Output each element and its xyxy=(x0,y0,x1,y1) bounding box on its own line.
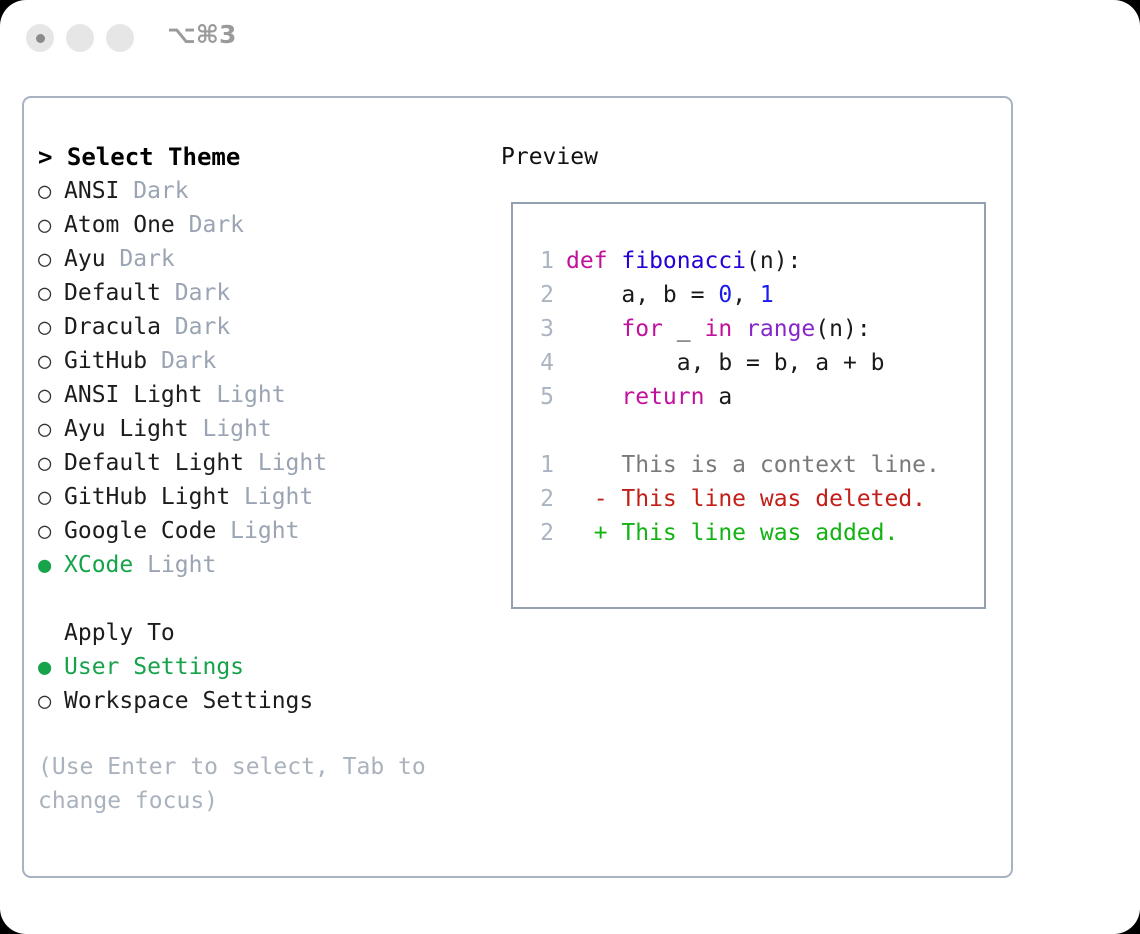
code-token: _ xyxy=(663,316,705,342)
theme-list-item[interactable]: ○Ayu Dark xyxy=(38,242,498,276)
diff-sign: + xyxy=(566,520,608,546)
radio-unselected-icon: ○ xyxy=(38,481,64,515)
theme-variant-badge: Light xyxy=(189,416,272,442)
diff-text: This is a context line. xyxy=(608,452,940,478)
keyboard-hint: (Use Enter to select, Tab to change focu… xyxy=(38,750,458,818)
diff-text: This line was added. xyxy=(608,520,899,546)
code-token: 1 xyxy=(760,282,774,308)
preview-title: Preview xyxy=(501,140,1001,174)
section-spacer xyxy=(38,582,498,616)
radio-unselected-icon: ○ xyxy=(38,277,64,311)
diff-sign: - xyxy=(566,486,608,512)
theme-name: Default xyxy=(64,280,161,306)
code-line-number: 2 xyxy=(528,278,554,312)
code-line-list: 1def fibonacci(n):2 a, b = 0, 13 for _ i… xyxy=(528,244,978,414)
code-token: return xyxy=(621,384,704,410)
diff-text: This line was deleted. xyxy=(608,486,927,512)
theme-name: Default Light xyxy=(64,450,244,476)
theme-list-item[interactable]: ○ANSI Dark xyxy=(38,174,498,208)
code-token: fibonacci xyxy=(621,248,746,274)
theme-list-item[interactable]: ○Ayu Light Light xyxy=(38,412,498,446)
theme-list-item[interactable]: ○Google Code Light xyxy=(38,514,498,548)
code-line: 5 return a xyxy=(528,380,978,414)
page-title: > Select Theme xyxy=(38,140,498,174)
radio-unselected-icon: ○ xyxy=(38,685,64,719)
code-line: 2 a, b = 0, 1 xyxy=(528,278,978,312)
diff-line: 2 - This line was deleted. xyxy=(528,482,978,516)
code-line-number: 5 xyxy=(528,380,554,414)
code-token: a xyxy=(704,384,732,410)
code-token: a, b = xyxy=(566,282,718,308)
theme-list-item[interactable]: ●XCode Light xyxy=(38,548,498,582)
theme-name: Atom One xyxy=(64,212,175,238)
code-line-number: 4 xyxy=(528,346,554,380)
radio-unselected-icon: ○ xyxy=(38,175,64,209)
page-title-label: Select Theme xyxy=(67,143,240,171)
code-preview: 1def fibonacci(n):2 a, b = 0, 13 for _ i… xyxy=(528,244,978,550)
radio-unselected-icon: ○ xyxy=(38,379,64,413)
theme-name: Google Code xyxy=(64,518,216,544)
theme-variant-badge: Dark xyxy=(147,348,216,374)
diff-line: 2 + This line was added. xyxy=(528,516,978,550)
code-token: a, b = b, a + b xyxy=(566,350,885,376)
code-token: , xyxy=(732,282,760,308)
theme-name: ANSI Light xyxy=(64,382,202,408)
theme-selection-column: > Select Theme ○ANSI Dark○Atom One Dark○… xyxy=(38,140,498,818)
theme-list-item[interactable]: ○GitHub Dark xyxy=(38,344,498,378)
preview-box: 1def fibonacci(n):2 a, b = 0, 13 for _ i… xyxy=(511,202,986,609)
theme-name: Ayu xyxy=(64,246,106,272)
code-token: range xyxy=(746,316,815,342)
radio-unselected-icon: ○ xyxy=(38,515,64,549)
diff-spacer xyxy=(528,414,978,448)
code-token: in xyxy=(704,316,732,342)
theme-name: GitHub Light xyxy=(64,484,230,510)
diff-line-number: 2 xyxy=(528,482,554,516)
code-line: 3 for _ in range(n): xyxy=(528,312,978,346)
theme-name: Dracula xyxy=(64,314,161,340)
preview-column: Preview 1def fibonacci(n):2 a, b = 0, 13… xyxy=(501,140,1001,174)
theme-list-item[interactable]: ○Default Light Light xyxy=(38,446,498,480)
theme-list: ○ANSI Dark○Atom One Dark○Ayu Dark○Defaul… xyxy=(38,174,498,582)
diff-line-list: 1 This is a context line.2 - This line w… xyxy=(528,448,978,550)
app-window: ⌥⌘3 > Select Theme ○ANSI Dark○Atom One D… xyxy=(0,0,1140,934)
radio-unselected-icon: ○ xyxy=(38,345,64,379)
theme-list-item[interactable]: ○ANSI Light Light xyxy=(38,378,498,412)
apply-to-list: ●User Settings○Workspace Settings xyxy=(38,650,498,718)
radio-unselected-icon: ○ xyxy=(38,447,64,481)
apply-to-heading-label: Apply To xyxy=(64,620,175,646)
window-dot-second[interactable] xyxy=(66,24,94,52)
radio-selected-icon: ● xyxy=(38,651,64,685)
diff-line-number: 1 xyxy=(528,448,554,482)
theme-variant-badge: Dark xyxy=(161,314,230,340)
theme-list-item[interactable]: ○Default Dark xyxy=(38,276,498,310)
apply-to-label: Workspace Settings xyxy=(64,688,313,714)
diff-line-number: 2 xyxy=(528,516,554,550)
code-token xyxy=(566,316,621,342)
theme-variant-badge: Light xyxy=(133,552,216,578)
keyboard-shortcut-label: ⌥⌘3 xyxy=(167,20,236,49)
diff-line: 1 This is a context line. xyxy=(528,448,978,482)
main-panel: > Select Theme ○ANSI Dark○Atom One Dark○… xyxy=(22,96,1013,878)
theme-list-item[interactable]: ○Atom One Dark xyxy=(38,208,498,242)
theme-variant-badge: Dark xyxy=(161,280,230,306)
code-line-number: 1 xyxy=(528,244,554,278)
theme-variant-badge: Light xyxy=(230,484,313,510)
theme-variant-badge: Dark xyxy=(175,212,244,238)
theme-name: GitHub xyxy=(64,348,147,374)
theme-name: Ayu Light xyxy=(64,416,189,442)
theme-variant-badge: Light xyxy=(244,450,327,476)
code-token xyxy=(732,316,746,342)
diff-sign xyxy=(566,452,608,478)
radio-unselected-icon: ○ xyxy=(38,243,64,277)
apply-to-item[interactable]: ●User Settings xyxy=(38,650,498,684)
code-line: 4 a, b = b, a + b xyxy=(528,346,978,380)
window-dot-third[interactable] xyxy=(106,24,134,52)
theme-name: XCode xyxy=(64,552,133,578)
hint-spacer xyxy=(38,718,498,750)
window-titlebar: ⌥⌘3 xyxy=(0,0,1140,78)
prompt-caret: > xyxy=(38,143,52,171)
code-token: (n): xyxy=(746,248,801,274)
apply-to-item[interactable]: ○Workspace Settings xyxy=(38,684,498,718)
theme-name: ANSI xyxy=(64,178,119,204)
window-dot-active-inner xyxy=(36,34,45,43)
code-token: def xyxy=(566,248,621,274)
apply-to-label: User Settings xyxy=(64,654,244,680)
apply-to-heading: Apply To xyxy=(38,616,498,650)
radio-unselected-icon: ○ xyxy=(38,413,64,447)
code-token: for xyxy=(621,316,663,342)
theme-variant-badge: Light xyxy=(216,518,299,544)
theme-variant-badge: Dark xyxy=(119,178,188,204)
radio-unselected-icon: ○ xyxy=(38,209,64,243)
window-dot-active[interactable] xyxy=(26,24,54,52)
window-controls xyxy=(26,24,134,52)
radio-unselected-icon: ○ xyxy=(38,311,64,345)
theme-variant-badge: Dark xyxy=(106,246,175,272)
theme-list-item[interactable]: ○Dracula Dark xyxy=(38,310,498,344)
code-token: 0 xyxy=(718,282,732,308)
theme-list-item[interactable]: ○GitHub Light Light xyxy=(38,480,498,514)
radio-selected-icon: ● xyxy=(38,549,64,583)
code-line: 1def fibonacci(n): xyxy=(528,244,978,278)
code-token: (n): xyxy=(815,316,870,342)
code-token xyxy=(566,384,621,410)
theme-variant-badge: Light xyxy=(202,382,285,408)
code-line-number: 3 xyxy=(528,312,554,346)
